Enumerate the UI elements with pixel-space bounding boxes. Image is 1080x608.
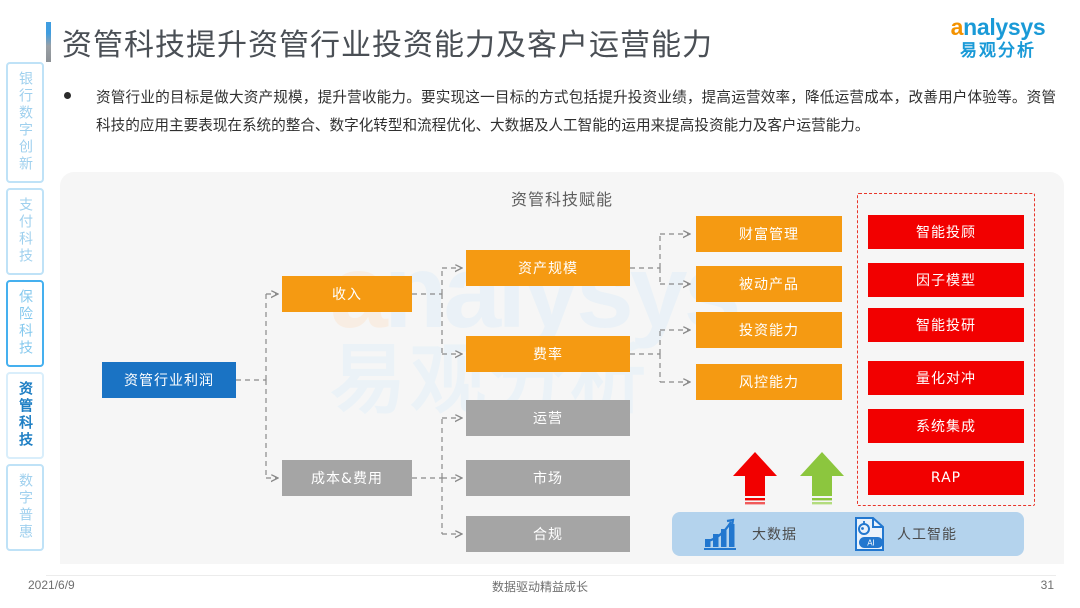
node-label: 运营 [533, 408, 563, 428]
enabler-panel: 大数据 AI 人工智能 [672, 512, 1024, 556]
node-label: 收入 [332, 284, 362, 304]
footer-page-number: 31 [1041, 578, 1054, 592]
node-label: 系统集成 [916, 416, 976, 436]
intro-paragraph: 资管行业的目标是做大资产规模，提升营收能力。要实现这一目标的方式包括提升投资业绩… [64, 84, 1056, 140]
node-factor-model[interactable]: 因子模型 [868, 263, 1024, 297]
node-label: 智能投研 [916, 315, 976, 335]
sidebar-tabs: 银行数字创新 支付科技 保险科技 资管科技 数字普惠 [6, 62, 46, 556]
node-label: 财富管理 [739, 224, 799, 244]
node-label: 投资能力 [739, 320, 799, 340]
sidebar-item-bank-digital-innovation[interactable]: 银行数字创新 [6, 62, 44, 183]
node-robo-advisor[interactable]: 智能投顾 [868, 215, 1024, 249]
sidebar-item-asset-management-tech[interactable]: 资管科技 [6, 372, 44, 459]
node-smart-research[interactable]: 智能投研 [868, 308, 1024, 342]
node-wealth-management[interactable]: 财富管理 [696, 216, 842, 252]
node-label: 资管行业利润 [124, 370, 214, 390]
bar-chart-icon [702, 517, 742, 551]
sidebar-item-digital-inclusive-finance[interactable]: 数字普惠 [6, 464, 44, 551]
node-fee-rate[interactable]: 费率 [466, 336, 630, 372]
page-title: 资管科技提升资管行业投资能力及客户运营能力 [62, 20, 713, 64]
sidebar-item-label: 保险科技 [18, 289, 32, 357]
footer-tagline: 数据驱动精益成长 [0, 578, 1080, 595]
node-passive-products[interactable]: 被动产品 [696, 266, 842, 302]
node-asset-scale[interactable]: 资产规模 [466, 250, 630, 286]
red-up-arrow [729, 450, 781, 508]
title-accent-bar [46, 22, 51, 62]
node-label: 成本&费用 [311, 468, 383, 488]
node-market[interactable]: 市场 [466, 460, 630, 496]
node-investment-capability[interactable]: 投资能力 [696, 312, 842, 348]
node-label: 资产规模 [518, 258, 578, 278]
node-label: 被动产品 [739, 274, 799, 294]
node-asset-mgmt-profit[interactable]: 资管行业利润 [102, 362, 236, 398]
node-quant-hedging[interactable]: 量化对冲 [868, 361, 1024, 395]
ai-document-icon: AI [853, 516, 887, 552]
sidebar-item-label: 银行数字创新 [18, 71, 32, 173]
bullet-icon [64, 92, 71, 99]
sidebar-item-label: 支付科技 [18, 197, 32, 265]
node-compliance[interactable]: 合规 [466, 516, 630, 552]
sidebar-item-insurance-tech[interactable]: 保险科技 [6, 280, 44, 367]
footer: 2021/6/9 数据驱动精益成长 31 [0, 578, 1080, 600]
enabler-big-data[interactable]: 大数据 [702, 517, 797, 551]
node-operations[interactable]: 运营 [466, 400, 630, 436]
node-label: 费率 [533, 344, 563, 364]
node-label: 因子模型 [916, 270, 976, 290]
sidebar-item-label: 资管科技 [18, 381, 32, 449]
title-bar: 资管科技提升资管行业投资能力及客户运营能力 [46, 20, 906, 64]
sidebar-item-label: 数字普惠 [18, 473, 32, 541]
node-label: 智能投顾 [916, 222, 976, 242]
intro-text: 资管行业的目标是做大资产规模，提升营收能力。要实现这一目标的方式包括提升投资业绩… [96, 84, 1056, 140]
analysys-logo: analysys 易观分析 [934, 14, 1062, 68]
svg-text:AI: AI [867, 539, 875, 548]
node-rap[interactable]: RAP [868, 461, 1024, 495]
node-label: RAP [931, 470, 961, 486]
node-revenue[interactable]: 收入 [282, 276, 412, 312]
node-label: 风控能力 [739, 372, 799, 392]
node-cost-and-expense[interactable]: 成本&费用 [282, 460, 412, 496]
green-up-arrow [796, 450, 848, 508]
enabler-label: 人工智能 [897, 524, 957, 544]
logo-chinese-name: 易观分析 [934, 40, 1062, 62]
enabler-artificial-intelligence[interactable]: AI 人工智能 [853, 516, 957, 552]
enabler-label: 大数据 [752, 524, 797, 544]
logo-letters-rest: nalysys [963, 14, 1045, 40]
sidebar-item-payment-tech[interactable]: 支付科技 [6, 188, 44, 275]
slide: 资管科技提升资管行业投资能力及客户运营能力 analysys 易观分析 资管行业… [0, 0, 1080, 608]
node-risk-control-capability[interactable]: 风控能力 [696, 364, 842, 400]
node-label: 量化对冲 [916, 368, 976, 388]
logo-letter-a: a [951, 14, 964, 40]
node-label: 合规 [533, 524, 563, 544]
node-system-integration[interactable]: 系统集成 [868, 409, 1024, 443]
node-label: 市场 [533, 468, 563, 488]
logo-wordmark: analysys [934, 14, 1062, 40]
footer-divider [46, 575, 1056, 576]
